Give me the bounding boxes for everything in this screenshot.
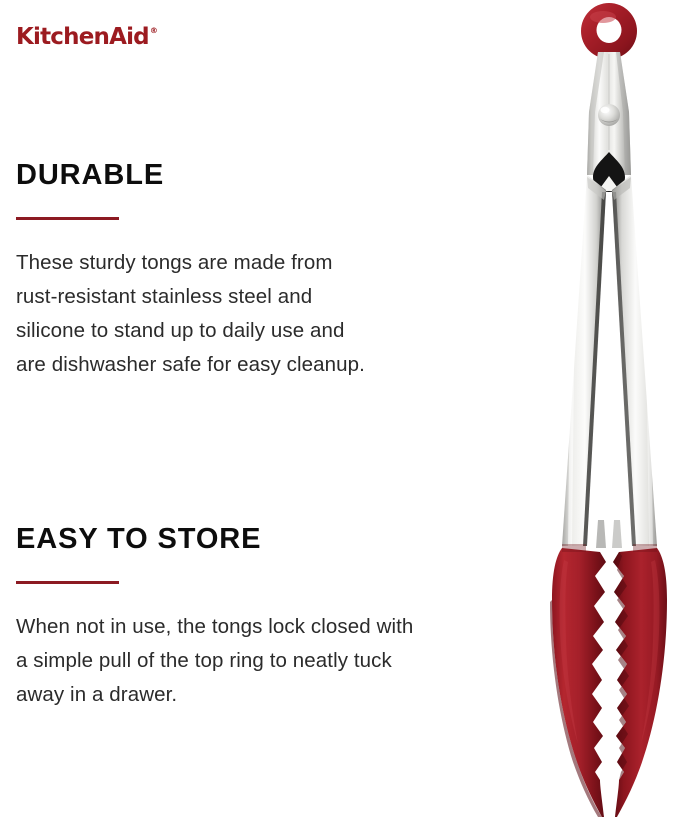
accent-rule-easy-to-store [16,581,119,584]
stainless-steel-arms [562,175,657,546]
rivet-button [598,104,620,126]
brand-name: KitchenAid [16,26,149,49]
body-line: are dishwasher safe for easy cleanup. [16,348,526,382]
body-line: rust-resistant stainless steel and [16,280,526,314]
feature-block-durable: DURABLE These sturdy tongs are made from… [16,160,526,382]
registered-trademark-symbol: ® [150,27,158,35]
body-line: These sturdy tongs are made from [16,246,526,280]
feature-body-durable: These sturdy tongs are made from rust-re… [16,246,526,382]
body-line: a simple pull of the top ring to neatly … [16,644,526,678]
accent-rule-durable [16,217,119,220]
kitchenaid-logo: KitchenAid ® [16,26,158,49]
product-feature-panel: KitchenAid ® DURABLE These sturdy tongs … [0,0,679,817]
product-photo-tongs [538,0,679,817]
red-locking-ring [581,3,637,59]
feature-heading-durable: DURABLE [16,160,526,190]
feature-heading-easy-to-store: EASY TO STORE [16,524,526,554]
silicone-tip-right [613,548,667,817]
feature-body-easy-to-store: When not in use, the tongs lock closed w… [16,610,526,712]
body-line: When not in use, the tongs lock closed w… [16,610,526,644]
body-line: away in a drawer. [16,678,526,712]
silicone-tip-left [550,548,606,817]
body-line: silicone to stand up to daily use and [16,314,526,348]
feature-block-easy-to-store: EASY TO STORE When not in use, the tongs… [16,524,526,712]
